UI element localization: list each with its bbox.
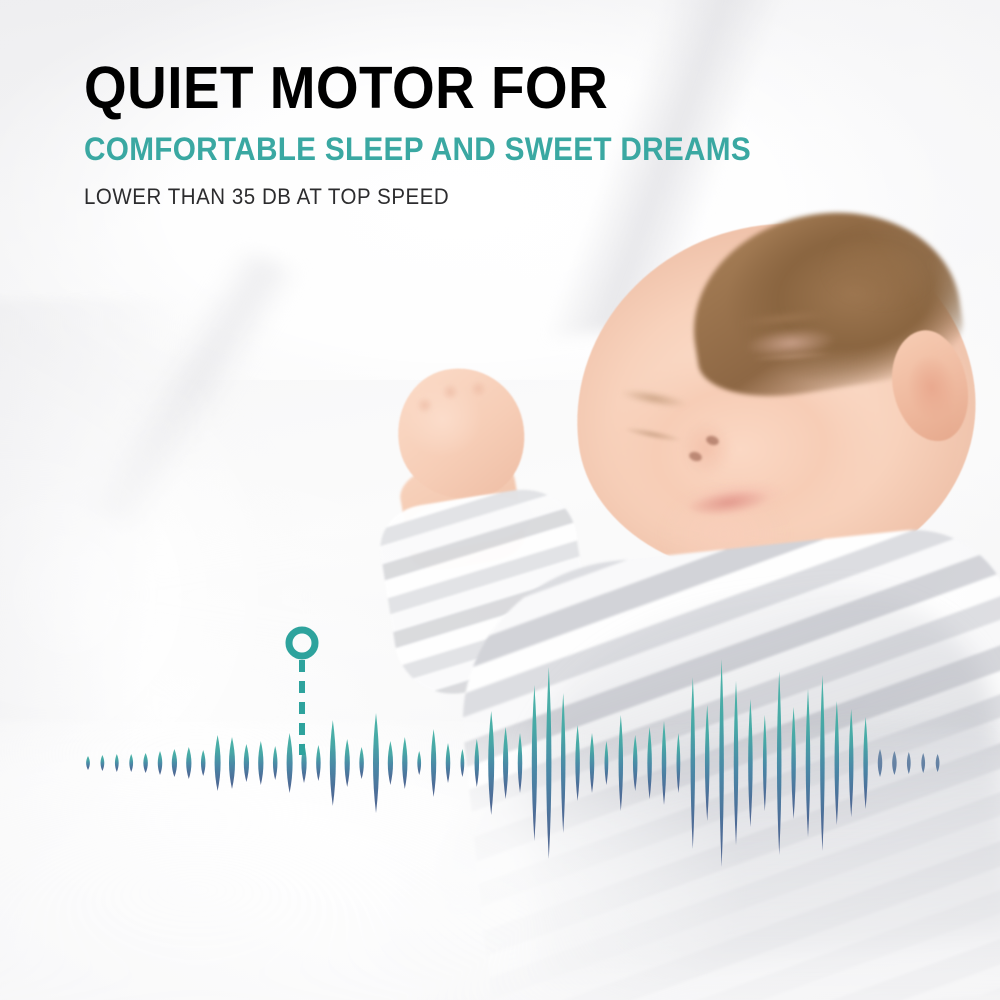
waveform-bar: [705, 705, 710, 821]
waveform-bar: [763, 715, 767, 811]
waveform-bar: [287, 733, 293, 793]
waveform-bar: [115, 754, 119, 772]
waveform-bar: [488, 711, 494, 815]
waveform-bar: [546, 667, 551, 859]
waveform-bar: [820, 675, 825, 851]
waveform-bar: [777, 671, 782, 855]
waveform-bar: [662, 721, 667, 805]
waveform-bar: [172, 749, 177, 777]
waveform-bar: [734, 681, 739, 845]
headline-block: QUIET MOTOR FOR COMFORTABLE SLEEP AND SW…: [84, 58, 804, 208]
waveform-bar: [186, 747, 191, 779]
waveform-bar: [878, 749, 883, 777]
waveform-bar: [518, 733, 523, 793]
page-subtitle: COMFORTABLE SLEEP AND SWEET DREAMS: [84, 133, 754, 167]
waveform-bar: [143, 753, 148, 773]
waveform-bar: [647, 727, 652, 799]
annotation-circle-marker: [289, 630, 315, 656]
waveform-bar: [791, 707, 796, 819]
waveform-bar: [431, 729, 436, 797]
waveform-bar: [229, 737, 235, 789]
waveform-bar: [101, 755, 105, 771]
waveform-bar: [633, 735, 638, 791]
sound-level-chart: 35dB 20dB40dB60dB8: [0, 600, 1000, 1000]
waveform-bar: [129, 754, 133, 772]
product-banner: QUIET MOTOR FOR COMFORTABLE SLEEP AND SW…: [0, 0, 1000, 1000]
waveform-bar: [936, 754, 940, 772]
waveform-bar: [201, 750, 206, 776]
waveform-bar: [446, 743, 451, 783]
waveform-bar: [849, 709, 854, 817]
waveform-bar: [532, 685, 537, 841]
page-title: QUIET MOTOR FOR: [84, 58, 754, 119]
waveform-bar: [86, 756, 90, 770]
waveform-bars: [86, 659, 939, 867]
waveform-bar: [461, 749, 465, 777]
waveform-bar: [244, 744, 249, 782]
waveform-bar: [863, 717, 868, 809]
waveform-bar: [316, 745, 321, 781]
chart-annotation-marker: [289, 630, 315, 755]
waveform-bar: [475, 739, 480, 787]
waveform-bar: [561, 693, 566, 833]
waveform-bar: [388, 741, 393, 785]
waveform-bar: [575, 725, 580, 801]
waveform-bar: [590, 733, 595, 793]
waveform-bar: [345, 739, 350, 787]
waveform-bar: [677, 733, 681, 793]
waveform-bar: [402, 737, 407, 789]
waveform-graphic: [0, 600, 1000, 930]
waveform-bar: [417, 751, 421, 775]
waveform-bar: [691, 677, 696, 849]
waveform-bar: [373, 713, 379, 813]
waveform-bar: [359, 747, 364, 779]
page-tagline: LOWER THAN 35 DB AT TOP SPEED: [84, 185, 754, 208]
waveform-bar: [748, 699, 753, 827]
waveform-bar: [215, 735, 221, 791]
waveform-bar: [503, 727, 508, 799]
waveform-bar: [719, 659, 724, 867]
waveform-bar: [907, 752, 911, 774]
waveform-bar: [258, 741, 263, 785]
waveform-bar: [605, 741, 609, 785]
waveform-bar: [619, 715, 624, 811]
waveform-bar: [892, 751, 897, 775]
waveform-bar: [921, 753, 925, 773]
waveform-bar: [158, 751, 163, 775]
waveform-bar: [273, 746, 278, 780]
waveform-bar: [330, 720, 336, 806]
waveform-bar: [806, 689, 811, 837]
waveform-bar: [835, 701, 840, 825]
